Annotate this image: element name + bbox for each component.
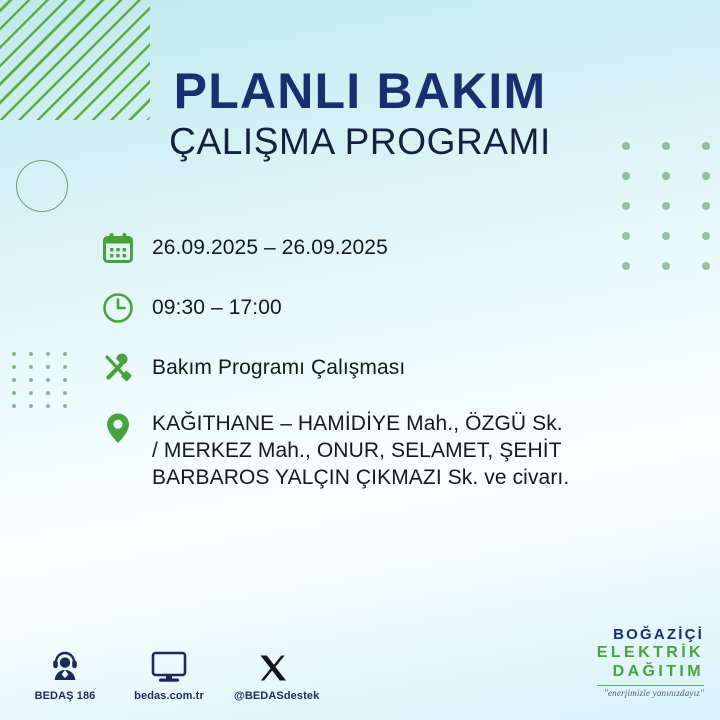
address-line: BARBAROS YALÇIN ÇIKMAZI Sk. ve civarı. <box>152 464 569 491</box>
dot <box>12 352 16 356</box>
dot <box>12 404 16 408</box>
dot <box>63 352 67 356</box>
page-title-block: PLANLI BAKIM ÇALIŞMA PROGRAMI <box>0 66 720 162</box>
planned-maintenance-poster: PLANLI BAKIM ÇALIŞMA PROGRAMI 26 <box>0 0 720 720</box>
contact-item-website[interactable]: bedas.com.tr <box>130 647 208 702</box>
dot <box>29 391 33 395</box>
clock-icon <box>98 288 138 328</box>
dot <box>63 404 67 408</box>
location-pin-icon <box>98 408 138 448</box>
dot <box>63 378 67 382</box>
dot <box>622 232 630 240</box>
contact-label-x: @BEDASdestek <box>234 690 312 702</box>
contact-item-call-center[interactable]: BEDAŞ 186 <box>26 647 104 702</box>
contact-label-website: bedas.com.tr <box>130 690 208 702</box>
dot <box>622 172 630 180</box>
circle-outline-decoration <box>16 160 68 212</box>
detail-value-address: KAĞITHANE – HAMİDİYE Mah., ÖZGÜ Sk. / ME… <box>152 408 569 491</box>
dot-grid-right-decoration <box>622 142 720 292</box>
brand-line-elektrik: ELEKTRİK <box>597 645 704 661</box>
dot <box>46 404 50 408</box>
detail-row-date: 26.09.2025 – 26.09.2025 <box>98 228 620 268</box>
detail-value-work-type: Bakım Programı Çalışması <box>152 348 405 381</box>
dot <box>63 365 67 369</box>
dot <box>46 352 50 356</box>
dot <box>702 232 710 240</box>
page-title: PLANLI BAKIM <box>0 66 720 117</box>
contact-label-call-center: BEDAŞ 186 <box>26 690 104 702</box>
dot <box>702 262 710 270</box>
brand-line-dagitim: DAĞITIM <box>597 664 704 680</box>
dot <box>29 378 33 382</box>
x-twitter-icon <box>234 647 312 683</box>
dot <box>702 172 710 180</box>
dot <box>46 378 50 382</box>
dot <box>662 232 670 240</box>
dot <box>12 378 16 382</box>
dot <box>63 391 67 395</box>
detail-row-address: KAĞITHANE – HAMİDİYE Mah., ÖZGÜ Sk. / ME… <box>98 408 620 491</box>
dot <box>622 202 630 210</box>
dot <box>12 365 16 369</box>
detail-value-date: 26.09.2025 – 26.09.2025 <box>152 228 388 261</box>
maintenance-details-list: 26.09.2025 – 26.09.2025 09:30 – 17:00 <box>98 228 620 491</box>
detail-value-time: 09:30 – 17:00 <box>152 288 282 321</box>
dot <box>46 391 50 395</box>
call-center-agent-icon <box>26 647 104 683</box>
brand-divider <box>597 685 704 686</box>
detail-row-work-type: Bakım Programı Çalışması <box>98 348 620 388</box>
calendar-icon <box>98 228 138 268</box>
dot <box>662 202 670 210</box>
dot <box>46 365 50 369</box>
address-line: KAĞITHANE – HAMİDİYE Mah., ÖZGÜ Sk. <box>152 410 569 437</box>
monitor-icon <box>130 647 208 683</box>
dot <box>29 365 33 369</box>
brand-line-bogazici: BOĞAZİÇİ <box>597 627 704 642</box>
brand-tagline: "enerjimizle yanınızdayız" <box>597 689 704 698</box>
dot <box>29 404 33 408</box>
dot <box>622 262 630 270</box>
dot <box>29 352 33 356</box>
detail-row-time: 09:30 – 17:00 <box>98 288 620 328</box>
dot <box>662 262 670 270</box>
footer-contact-bar: BEDAŞ 186 bedas.com.tr @BEDASdestek <box>26 647 312 702</box>
dot <box>662 172 670 180</box>
page-subtitle: ÇALIŞMA PROGRAMI <box>0 123 720 162</box>
dot-grid-left-decoration <box>12 352 80 417</box>
bedas-brand-logo: BOĞAZİÇİ ELEKTRİK DAĞITIM "enerjimizle y… <box>597 627 704 698</box>
dot <box>702 202 710 210</box>
tools-icon <box>98 348 138 388</box>
address-line: / MERKEZ Mah., ONUR, SELAMET, ŞEHİT <box>152 437 569 464</box>
dot <box>12 391 16 395</box>
contact-item-x[interactable]: @BEDASdestek <box>234 647 312 702</box>
